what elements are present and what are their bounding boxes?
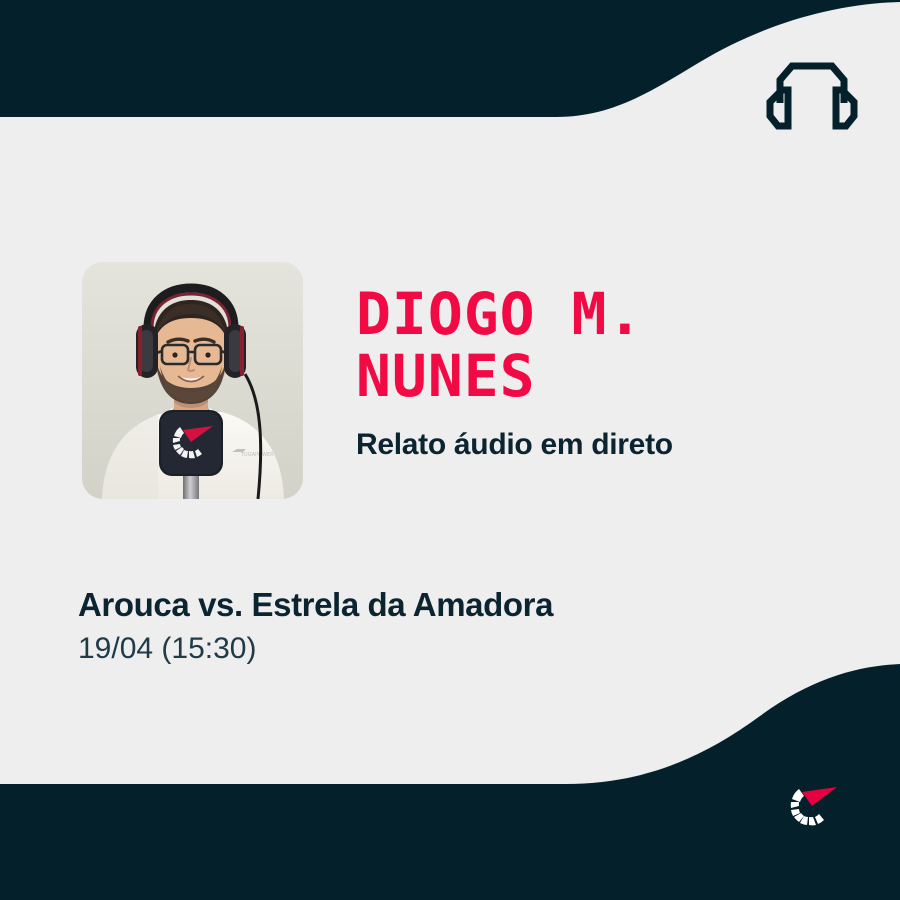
presenter-photo-illustration: TUGAPOWER [82,262,303,499]
bottom-navy-band [0,664,900,900]
match-fixture: Arouca vs. Estrela da Amadora [78,585,818,625]
svg-text:TUGAPOWER: TUGAPOWER [240,452,274,458]
presenter-name-line-1: DIOGO M. [356,283,856,345]
headphones-icon [766,58,858,132]
match-info-block: Arouca vs. Estrela da Amadora 19/04 (15:… [78,585,818,668]
presenter-name-line-2: NUNES [356,345,856,407]
top-navy-band [0,0,900,117]
broadcast-announcement-card: TUGAPOWER [0,0,900,900]
presenter-role: Relato áudio em direto [356,407,856,462]
match-datetime: 19/04 (15:30) [78,625,818,668]
brand-logo-icon [781,776,857,836]
hero-text-block: DIOGO M. NUNES Relato áudio em direto [356,283,856,462]
presenter-photo: TUGAPOWER [82,262,303,499]
